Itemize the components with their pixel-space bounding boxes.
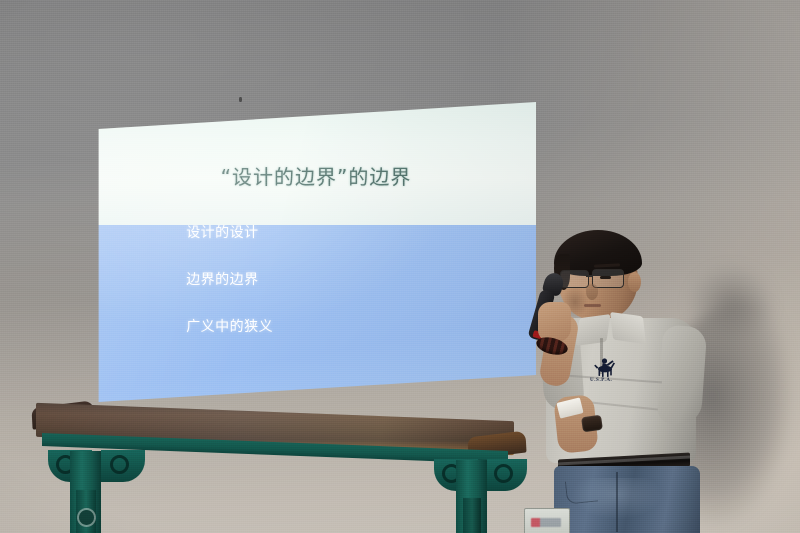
- floor-placard: [524, 508, 570, 533]
- sleeve-right: [657, 325, 708, 426]
- projected-slide: “设计的边界”的边界 设计的设计 边界的边界 广义中的狭义: [96, 102, 536, 402]
- wristwatch: [581, 415, 603, 433]
- table-leg-panel-right: [463, 498, 481, 533]
- table-scroll-carving: [110, 455, 129, 474]
- slide-bullet-item: 设计的设计: [186, 222, 273, 242]
- eyeglasses-bridge: [586, 275, 593, 277]
- slide-bullet-item: 广义中的狭义: [186, 316, 273, 336]
- jeans-pocket: [565, 478, 598, 504]
- slide-body-band: [96, 225, 536, 402]
- eye: [600, 276, 611, 279]
- hand-holding-microphone: [538, 302, 571, 342]
- slide-bullet-list: 设计的设计 边界的边界 广义中的狭义: [186, 222, 273, 336]
- wall-speck: [239, 97, 242, 102]
- polo-logo-text: U.S.P.A.: [590, 378, 612, 383]
- photo-canvas: “设计的边界”的边界 设计的设计 边界的边界 广义中的狭义: [0, 0, 800, 533]
- table-leg-medallion: [79, 510, 94, 525]
- mouth: [584, 304, 601, 307]
- ear: [628, 272, 641, 292]
- slide-surface: “设计的边界”的边界 设计的设计 边界的边界 广义中的狭义: [96, 102, 536, 402]
- slide-title: “设计的边界”的边界: [96, 161, 536, 190]
- eyeglasses-lens-left: [560, 270, 589, 288]
- placard-logo-mark: [531, 518, 561, 527]
- table-scroll-carving: [494, 464, 513, 483]
- jeans-seam: [616, 472, 618, 532]
- shirt-collar-right: [610, 312, 646, 344]
- speaker-person: U.S.P.A.: [520, 228, 730, 533]
- shirt-collar-left: [576, 314, 611, 346]
- chinese-altar-table: [22, 394, 532, 533]
- nose: [586, 284, 598, 300]
- polo-horse-rider-icon: [593, 354, 617, 380]
- slide-bullet-item: 边界的边界: [186, 269, 273, 289]
